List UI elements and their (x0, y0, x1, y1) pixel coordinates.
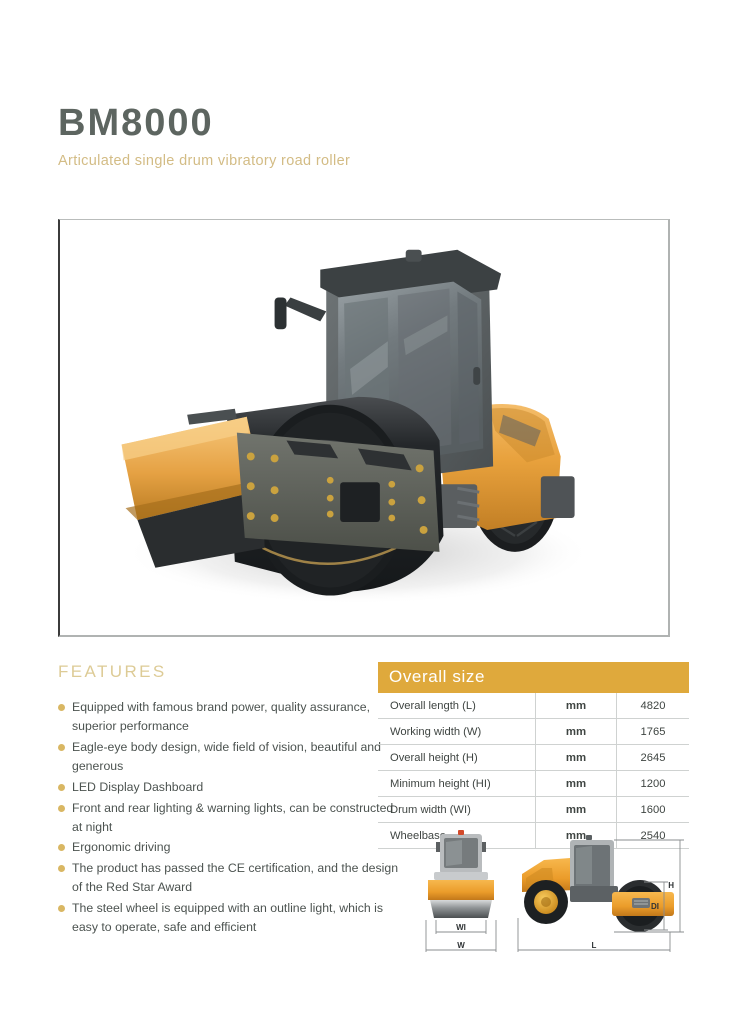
spec-label: Overall length (L) (378, 693, 536, 719)
table-row: Minimum height (HI) mm 1200 (378, 771, 689, 797)
product-subtitle: Articulated single drum vibratory road r… (58, 153, 658, 170)
spec-unit: mm (536, 719, 617, 745)
feature-item: The product has passed the CE certificat… (58, 859, 403, 897)
spec-value: 2645 (617, 745, 690, 771)
drum-mount-plate (237, 433, 440, 552)
side-view-label-h: H (668, 881, 674, 890)
spec-value: 1600 (617, 797, 690, 823)
feature-text: LED Display Dashboard (72, 778, 203, 797)
bullet-icon (58, 865, 65, 872)
spec-value: 1200 (617, 771, 690, 797)
bullet-icon (58, 784, 65, 791)
dimension-diagram: WI W (418, 826, 694, 966)
bullet-icon (58, 905, 65, 912)
table-row: Drum width (WI) mm 1600 (378, 797, 689, 823)
bullet-icon (58, 704, 65, 711)
spec-value: 1765 (617, 719, 690, 745)
feature-item: The steel wheel is equipped with an outl… (58, 899, 403, 937)
bullet-icon (58, 844, 65, 851)
specifications-panel: Overall size Overall length (L) mm 4820 … (378, 662, 689, 849)
product-image-frame (58, 219, 670, 637)
product-header: BM8000 Articulated single drum vibratory… (58, 104, 658, 170)
front-view-label-wi: WI (456, 923, 466, 932)
feature-item: Eagle-eye body design, wide field of vis… (58, 738, 403, 776)
features-section: FEATURES Equipped with famous brand powe… (58, 662, 403, 939)
spec-label: Drum width (WI) (378, 797, 536, 823)
features-heading: FEATURES (58, 662, 403, 682)
spec-label: Minimum height (HI) (378, 771, 536, 797)
table-row: Overall length (L) mm 4820 (378, 693, 689, 719)
feature-text: Front and rear lighting & warning lights… (72, 799, 403, 837)
spec-label: Working width (W) (378, 719, 536, 745)
front-view: WI W (426, 830, 496, 952)
feature-text: Equipped with famous brand power, qualit… (72, 698, 403, 736)
bullet-icon (58, 744, 65, 751)
bullet-icon (58, 805, 65, 812)
spec-table-title: Overall size (378, 662, 689, 693)
spec-unit: mm (536, 693, 617, 719)
spec-value: 4820 (617, 693, 690, 719)
feature-text: The product has passed the CE certificat… (72, 859, 403, 897)
side-view: H DI L (518, 835, 684, 952)
spec-unit: mm (536, 797, 617, 823)
page-title: BM8000 (58, 104, 658, 144)
feature-text: Ergonomic driving (72, 838, 170, 857)
feature-text: The steel wheel is equipped with an outl… (72, 899, 403, 937)
side-view-label-l: L (592, 941, 597, 950)
feature-item: Equipped with famous brand power, qualit… (58, 698, 403, 736)
spec-label: Overall height (H) (378, 745, 536, 771)
spec-unit: mm (536, 771, 617, 797)
table-row: Working width (W) mm 1765 (378, 719, 689, 745)
feature-text: Eagle-eye body design, wide field of vis… (72, 738, 403, 776)
side-view-label-di: DI (651, 902, 659, 911)
feature-item: Front and rear lighting & warning lights… (58, 799, 403, 837)
table-row: Overall height (H) mm 2645 (378, 745, 689, 771)
spec-unit: mm (536, 745, 617, 771)
road-roller-illustration (60, 220, 668, 635)
feature-item: LED Display Dashboard (58, 778, 403, 797)
front-view-label-w: W (457, 941, 465, 950)
feature-item: Ergonomic driving (58, 838, 403, 857)
